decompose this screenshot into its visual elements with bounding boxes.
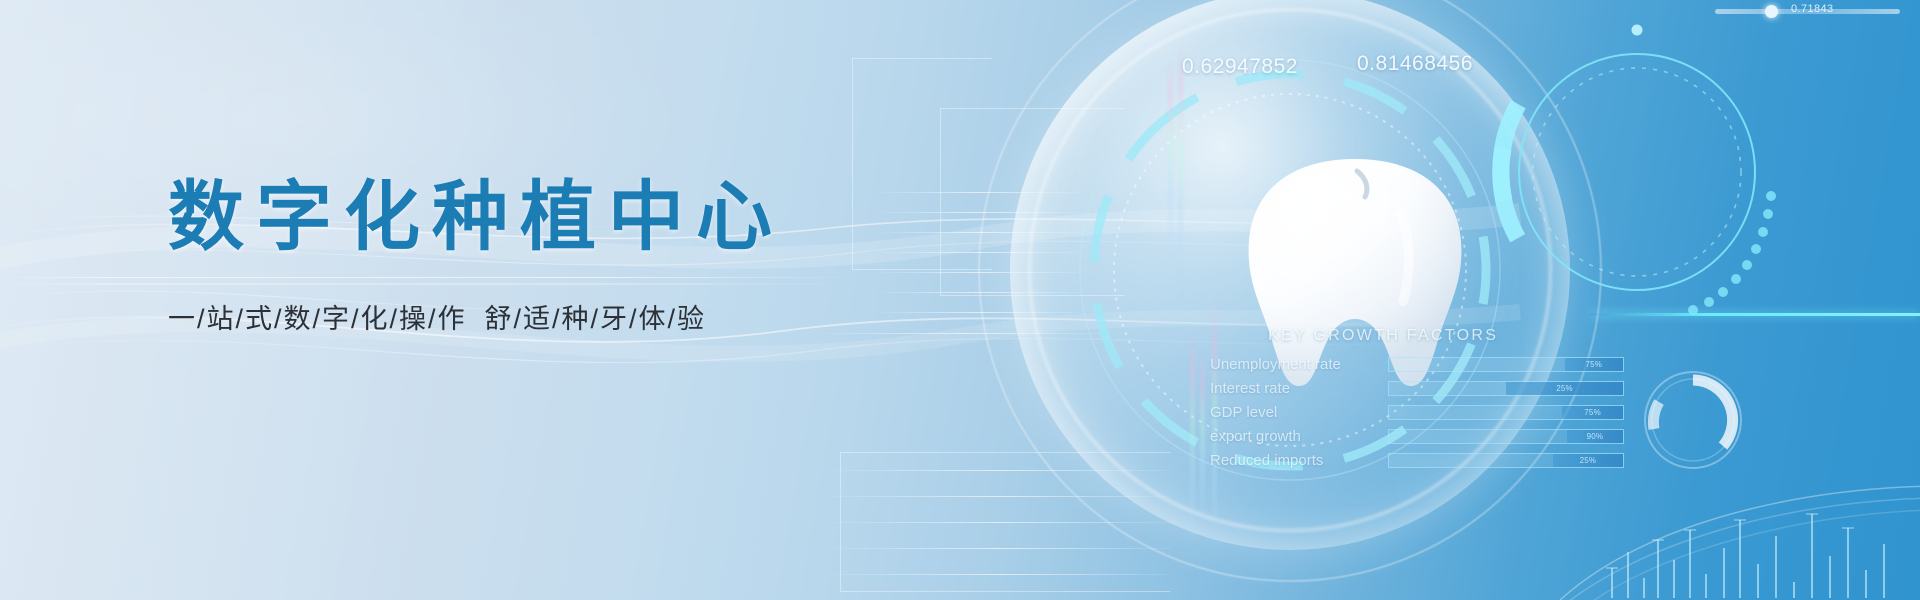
page-title: 数字化种植中心 — [168, 178, 784, 258]
list-item: Interest rate 25% — [1210, 380, 1730, 399]
row-percent: 75% — [1585, 360, 1602, 369]
row-bar: 25% — [1388, 381, 1624, 396]
list-item: Unemployment rate 75% — [1210, 356, 1730, 375]
page-subtitle: 一/站/式/数/字/化/操/作舒/适/种/牙/体/验 — [168, 297, 784, 336]
row-bar: 75% — [1388, 405, 1624, 420]
row-label: Interest rate — [1210, 380, 1378, 397]
row-bar-fill: 25% — [1506, 382, 1623, 395]
row-bar-fill: 90% — [1567, 430, 1623, 443]
list-item: GDP level 75% — [1210, 404, 1730, 423]
list-item: export growth 90% — [1210, 428, 1730, 447]
row-percent: 90% — [1587, 432, 1604, 441]
hero-banner: 数字化种植中心 一/站/式/数/字/化/操/作舒/适/种/牙/体/验 — [0, 0, 1920, 600]
row-percent: 25% — [1556, 384, 1573, 393]
tech-graphic-panel: 0.71843 0.62947852 0.81468456 — [860, 0, 1920, 600]
list-item: Reduced imports 25% — [1210, 452, 1730, 471]
row-bar: 90% — [1388, 429, 1624, 444]
subtitle-left: 一/站/式/数/字/化/操/作 — [168, 304, 467, 334]
row-bar-fill: 75% — [1562, 406, 1623, 419]
row-bar: 25% — [1388, 453, 1624, 468]
row-bar-fill: 25% — [1553, 454, 1623, 467]
row-label: export growth — [1210, 428, 1378, 445]
row-bar: 75% — [1388, 357, 1624, 372]
title-block: 数字化种植中心 一/站/式/数/字/化/操/作舒/适/种/牙/体/验 — [168, 178, 784, 336]
row-percent: 25% — [1580, 456, 1597, 465]
panel-title: KEY GROWTH FACTORS — [1268, 327, 1498, 345]
micro-bar-chart-decoration — [1600, 490, 1900, 600]
subtitle-right: 舒/适/种/牙/体/验 — [485, 304, 707, 334]
panel-rows: Unemployment rate 75% Interest rate 25% — [1210, 356, 1730, 476]
row-label: Reduced imports — [1210, 452, 1378, 469]
row-label: GDP level — [1210, 404, 1378, 421]
row-label: Unemployment rate — [1210, 356, 1378, 373]
row-percent: 75% — [1584, 408, 1601, 417]
row-bar-fill: 75% — [1565, 358, 1624, 371]
